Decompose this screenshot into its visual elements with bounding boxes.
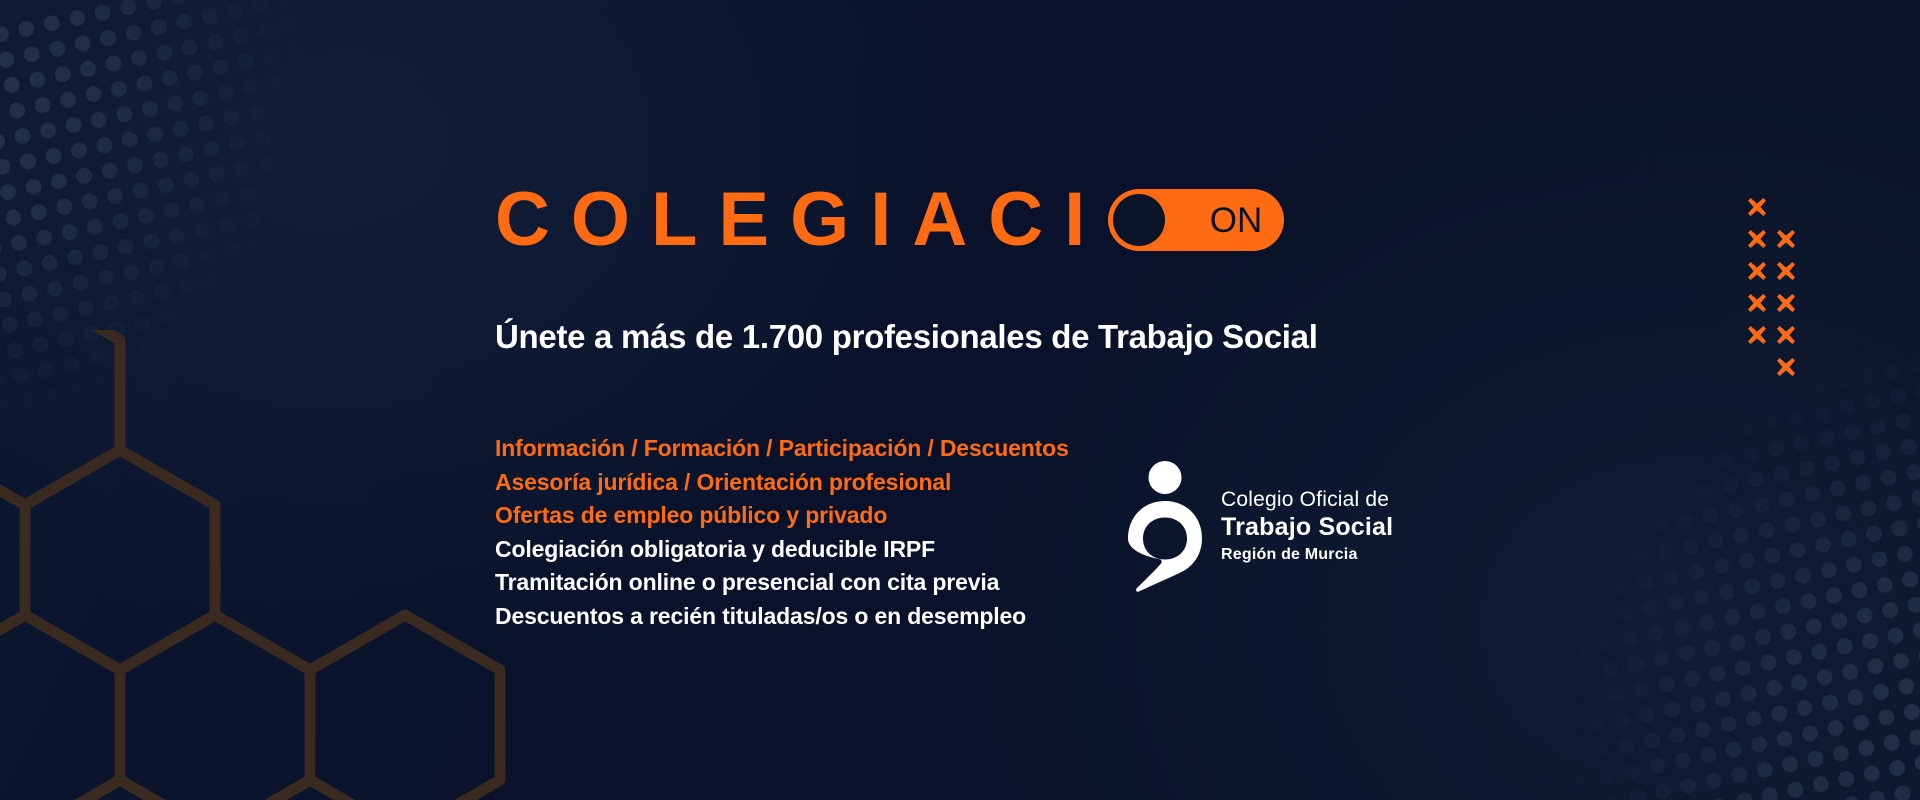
toggle-label: ON bbox=[1210, 203, 1263, 238]
benefits-list: Información / Formación / Participación … bbox=[495, 432, 1069, 634]
list-item: Descuentos a recién tituladas/os o en de… bbox=[495, 600, 1069, 634]
headline: COLEGIACI ON bbox=[495, 183, 1284, 257]
logo-line-colegio: Colegio Oficial de bbox=[1221, 487, 1393, 513]
list-item: Asesoría jurídica / Orientación profesio… bbox=[495, 466, 1069, 500]
toggle-knob[interactable] bbox=[1113, 194, 1165, 246]
list-item: Colegiación obligatoria y deducible IRPF bbox=[495, 533, 1069, 567]
colegiacion-banner: COLEGIACI ON Únete a más de 1.700 profes… bbox=[0, 0, 1920, 800]
banner-content: COLEGIACI ON Únete a más de 1.700 profes… bbox=[495, 0, 1495, 800]
hexagon-outline-pattern bbox=[0, 330, 510, 800]
logo-lockup: Colegio Oficial de Trabajo Social Región… bbox=[1126, 460, 1393, 595]
list-item: Información / Formación / Participación … bbox=[495, 432, 1069, 466]
headline-word: COLEGIACI bbox=[495, 182, 1106, 258]
logo-line-region: Región de Murcia bbox=[1221, 542, 1393, 568]
person-speech-bubble-icon bbox=[1126, 460, 1204, 595]
logo-text: Colegio Oficial de Trabajo Social Región… bbox=[1221, 487, 1393, 568]
logo-line-trabajo-social: Trabajo Social bbox=[1221, 513, 1393, 542]
x-mark-grid-decoration bbox=[1748, 198, 1858, 398]
list-item: Tramitación online o presencial con cita… bbox=[495, 566, 1069, 600]
list-item: Ofertas de empleo público y privado bbox=[495, 499, 1069, 533]
subtitle: Únete a más de 1.700 profesionales de Tr… bbox=[495, 318, 1318, 356]
colegiacion-toggle[interactable]: ON bbox=[1108, 189, 1284, 251]
